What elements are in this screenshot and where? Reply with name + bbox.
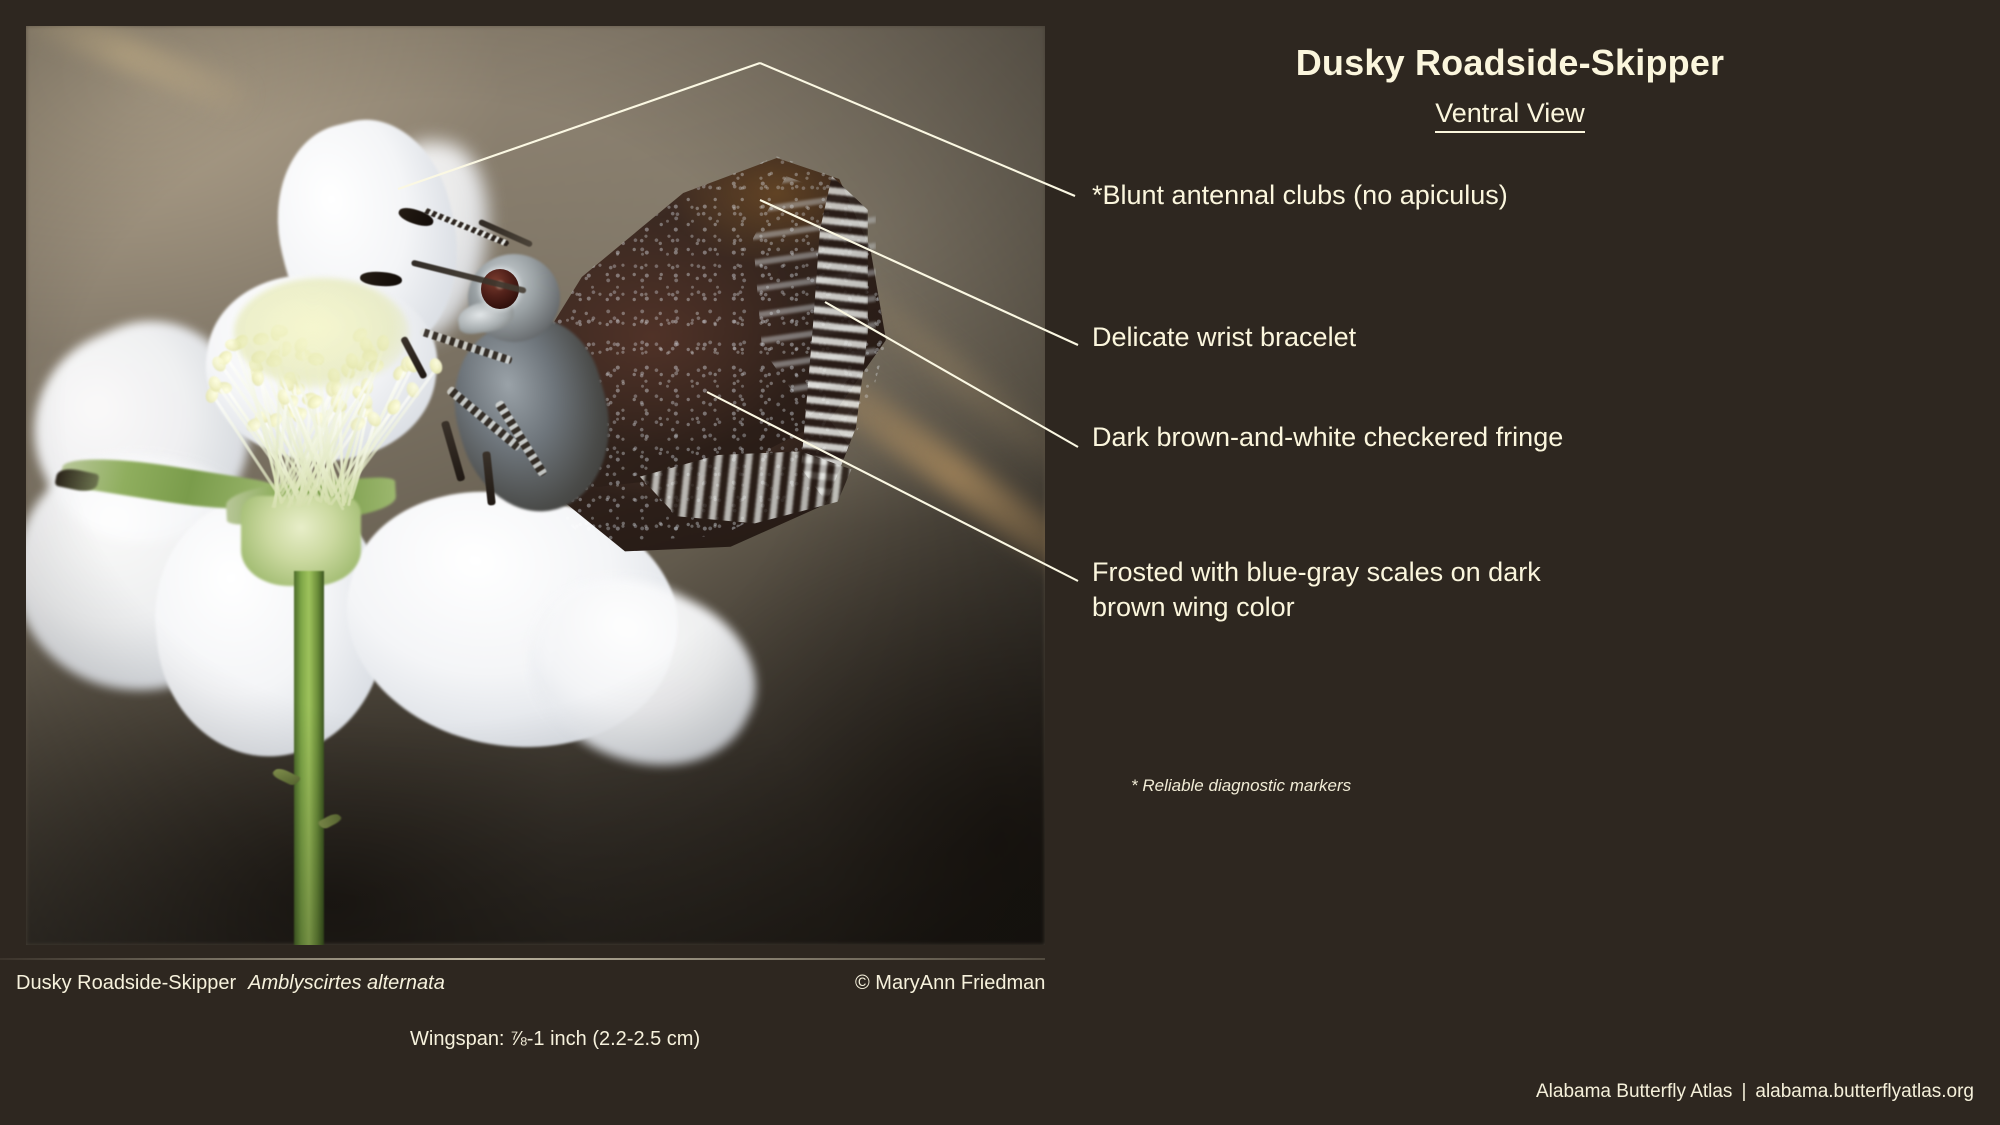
callout-checkered-fringe: Dark brown-and-white checkered fringe <box>1092 420 1612 455</box>
atlas-footer-url: alabama.butterflyatlas.org <box>1755 1081 1974 1102</box>
infographic-canvas: Dusky Roadside-SkipperAmblyscirtes alter… <box>0 0 2000 1125</box>
info-panel: Dusky Roadside-Skipper Ventral View *Blu… <box>1060 0 2000 1125</box>
view-subtitle-text: Ventral View <box>1435 98 1585 133</box>
photo-vignette <box>26 26 1045 945</box>
wingspan-label: Wingspan: ⅞-1 inch (2.2-2.5 cm) <box>410 1028 700 1051</box>
view-subtitle: Ventral View <box>1060 98 1960 129</box>
callout-wrist-bracelet: Delicate wrist bracelet <box>1092 320 1612 355</box>
atlas-footer-separator: | <box>1732 1081 1755 1102</box>
page-title: Dusky Roadside-Skipper <box>1060 42 1960 84</box>
callout-frosted-scales: Frosted with blue-gray scales on dark br… <box>1092 555 1612 625</box>
callout-antennal-clubs: *Blunt antennal clubs (no apiculus) <box>1092 178 1612 213</box>
butterfly-photo <box>26 26 1045 945</box>
caption-divider <box>0 958 1045 960</box>
photo-credit: © MaryAnn Friedman <box>855 972 1045 995</box>
diagnostic-markers-note: * Reliable diagnostic markers <box>1131 776 1351 796</box>
photo-caption: Dusky Roadside-SkipperAmblyscirtes alter… <box>16 972 445 995</box>
atlas-footer-org: Alabama Butterfly Atlas <box>1536 1081 1732 1102</box>
caption-scientific-name: Amblyscirtes alternata <box>236 972 445 994</box>
atlas-footer: Alabama Butterfly Atlas|alabama.butterfl… <box>1536 1081 1974 1103</box>
caption-common-name: Dusky Roadside-Skipper <box>16 972 236 994</box>
